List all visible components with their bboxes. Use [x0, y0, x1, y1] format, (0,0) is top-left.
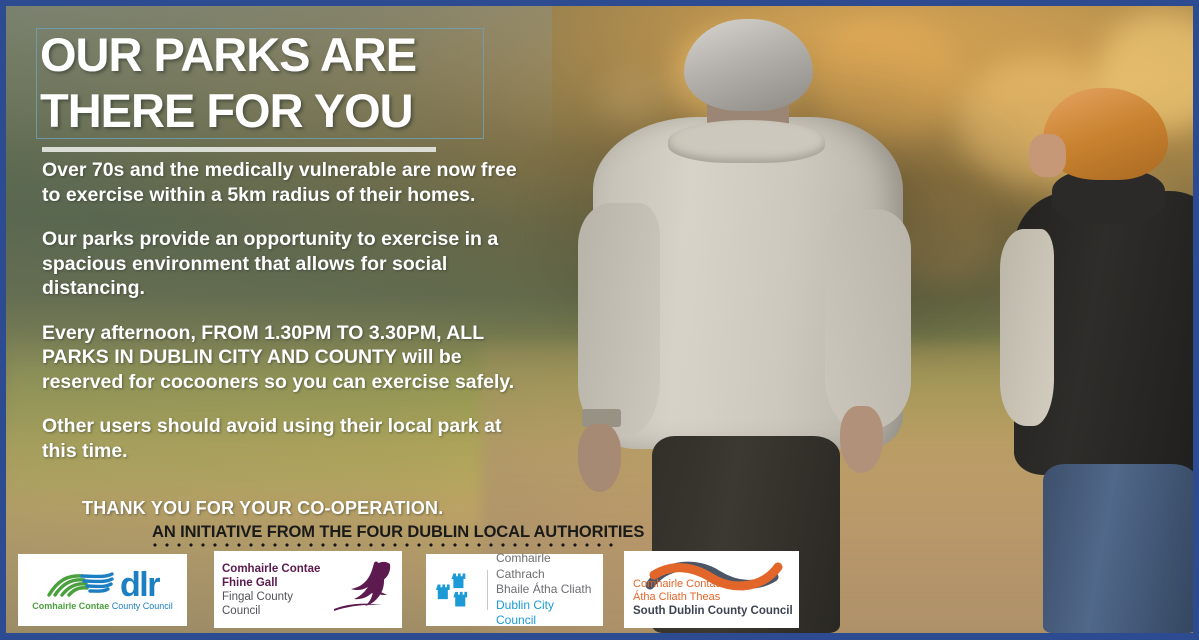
- paragraph-spacious-environment: Our parks provide an opportunity to exer…: [42, 227, 520, 301]
- sdcc-irish-line2: Átha Cliath Theas: [633, 591, 793, 605]
- dlr-irish-name: Comhairle Contae: [32, 601, 109, 611]
- paragraph-exercise-freedom: Over 70s and the medically vulnerable ar…: [42, 158, 520, 207]
- fingal-english-line2: Council: [222, 604, 330, 618]
- logo-south-dublin-county-council[interactable]: Comhairle Contae Átha Cliath Theas South…: [624, 551, 799, 628]
- fingal-english-line1: Fingal County: [222, 590, 330, 604]
- dcc-irish-line1: Comhairle Cathrach: [496, 551, 594, 582]
- dcc-irish-line2: Bhaile Átha Cliath: [496, 582, 594, 598]
- dlr-subtitle: Comhairle Contae County Council: [32, 601, 173, 611]
- page-title: OUR PARKS ARE THERE FOR YOU: [40, 27, 560, 139]
- logo-divider: [487, 570, 488, 610]
- overlay-content: OUR PARKS ARE THERE FOR YOU Over 70s and…: [6, 6, 1193, 633]
- logo-fingal-county-council[interactable]: Comhairle Contae Fhine Gall Fingal Count…: [214, 551, 402, 628]
- dlr-english-name: County Council: [112, 601, 173, 611]
- dotted-divider: [149, 543, 619, 547]
- dlr-wordmark: dlr: [120, 570, 159, 600]
- sdcc-irish-line1: Comhairle Contae: [633, 578, 793, 592]
- fingal-irish-line2: Fhine Gall: [222, 576, 330, 590]
- poster: OUR PARKS ARE THERE FOR YOU Over 70s and…: [0, 0, 1199, 640]
- paragraph-schedule: Every afternoon, FROM 1.30PM TO 3.30PM, …: [42, 321, 520, 395]
- thank-you-line: THANK YOU FOR YOUR CO-OPERATION.: [82, 498, 443, 519]
- initiative-line: AN INITIATIVE FROM THE FOUR DUBLIN LOCAL…: [152, 523, 644, 542]
- eagle-icon: [330, 559, 394, 621]
- logo-dlr[interactable]: dlr Comhairle Contae County Council: [18, 554, 187, 626]
- three-castles-icon: [435, 567, 479, 613]
- body-copy: Over 70s and the medically vulnerable ar…: [42, 158, 520, 483]
- schedule-lead: Every afternoon,: [42, 322, 201, 344]
- logo-dublin-city-council[interactable]: Comhairle Cathrach Bhaile Átha Cliath Du…: [426, 554, 603, 626]
- dlr-wave-icon: [46, 570, 116, 600]
- fingal-irish-line1: Comhairle Contae: [222, 562, 330, 576]
- title-divider-rule: [42, 147, 436, 152]
- sdcc-english-name: South Dublin County Council: [633, 605, 793, 619]
- dcc-english-name: Dublin City Council: [496, 598, 594, 629]
- paragraph-other-users: Other users should avoid using their loc…: [42, 414, 520, 463]
